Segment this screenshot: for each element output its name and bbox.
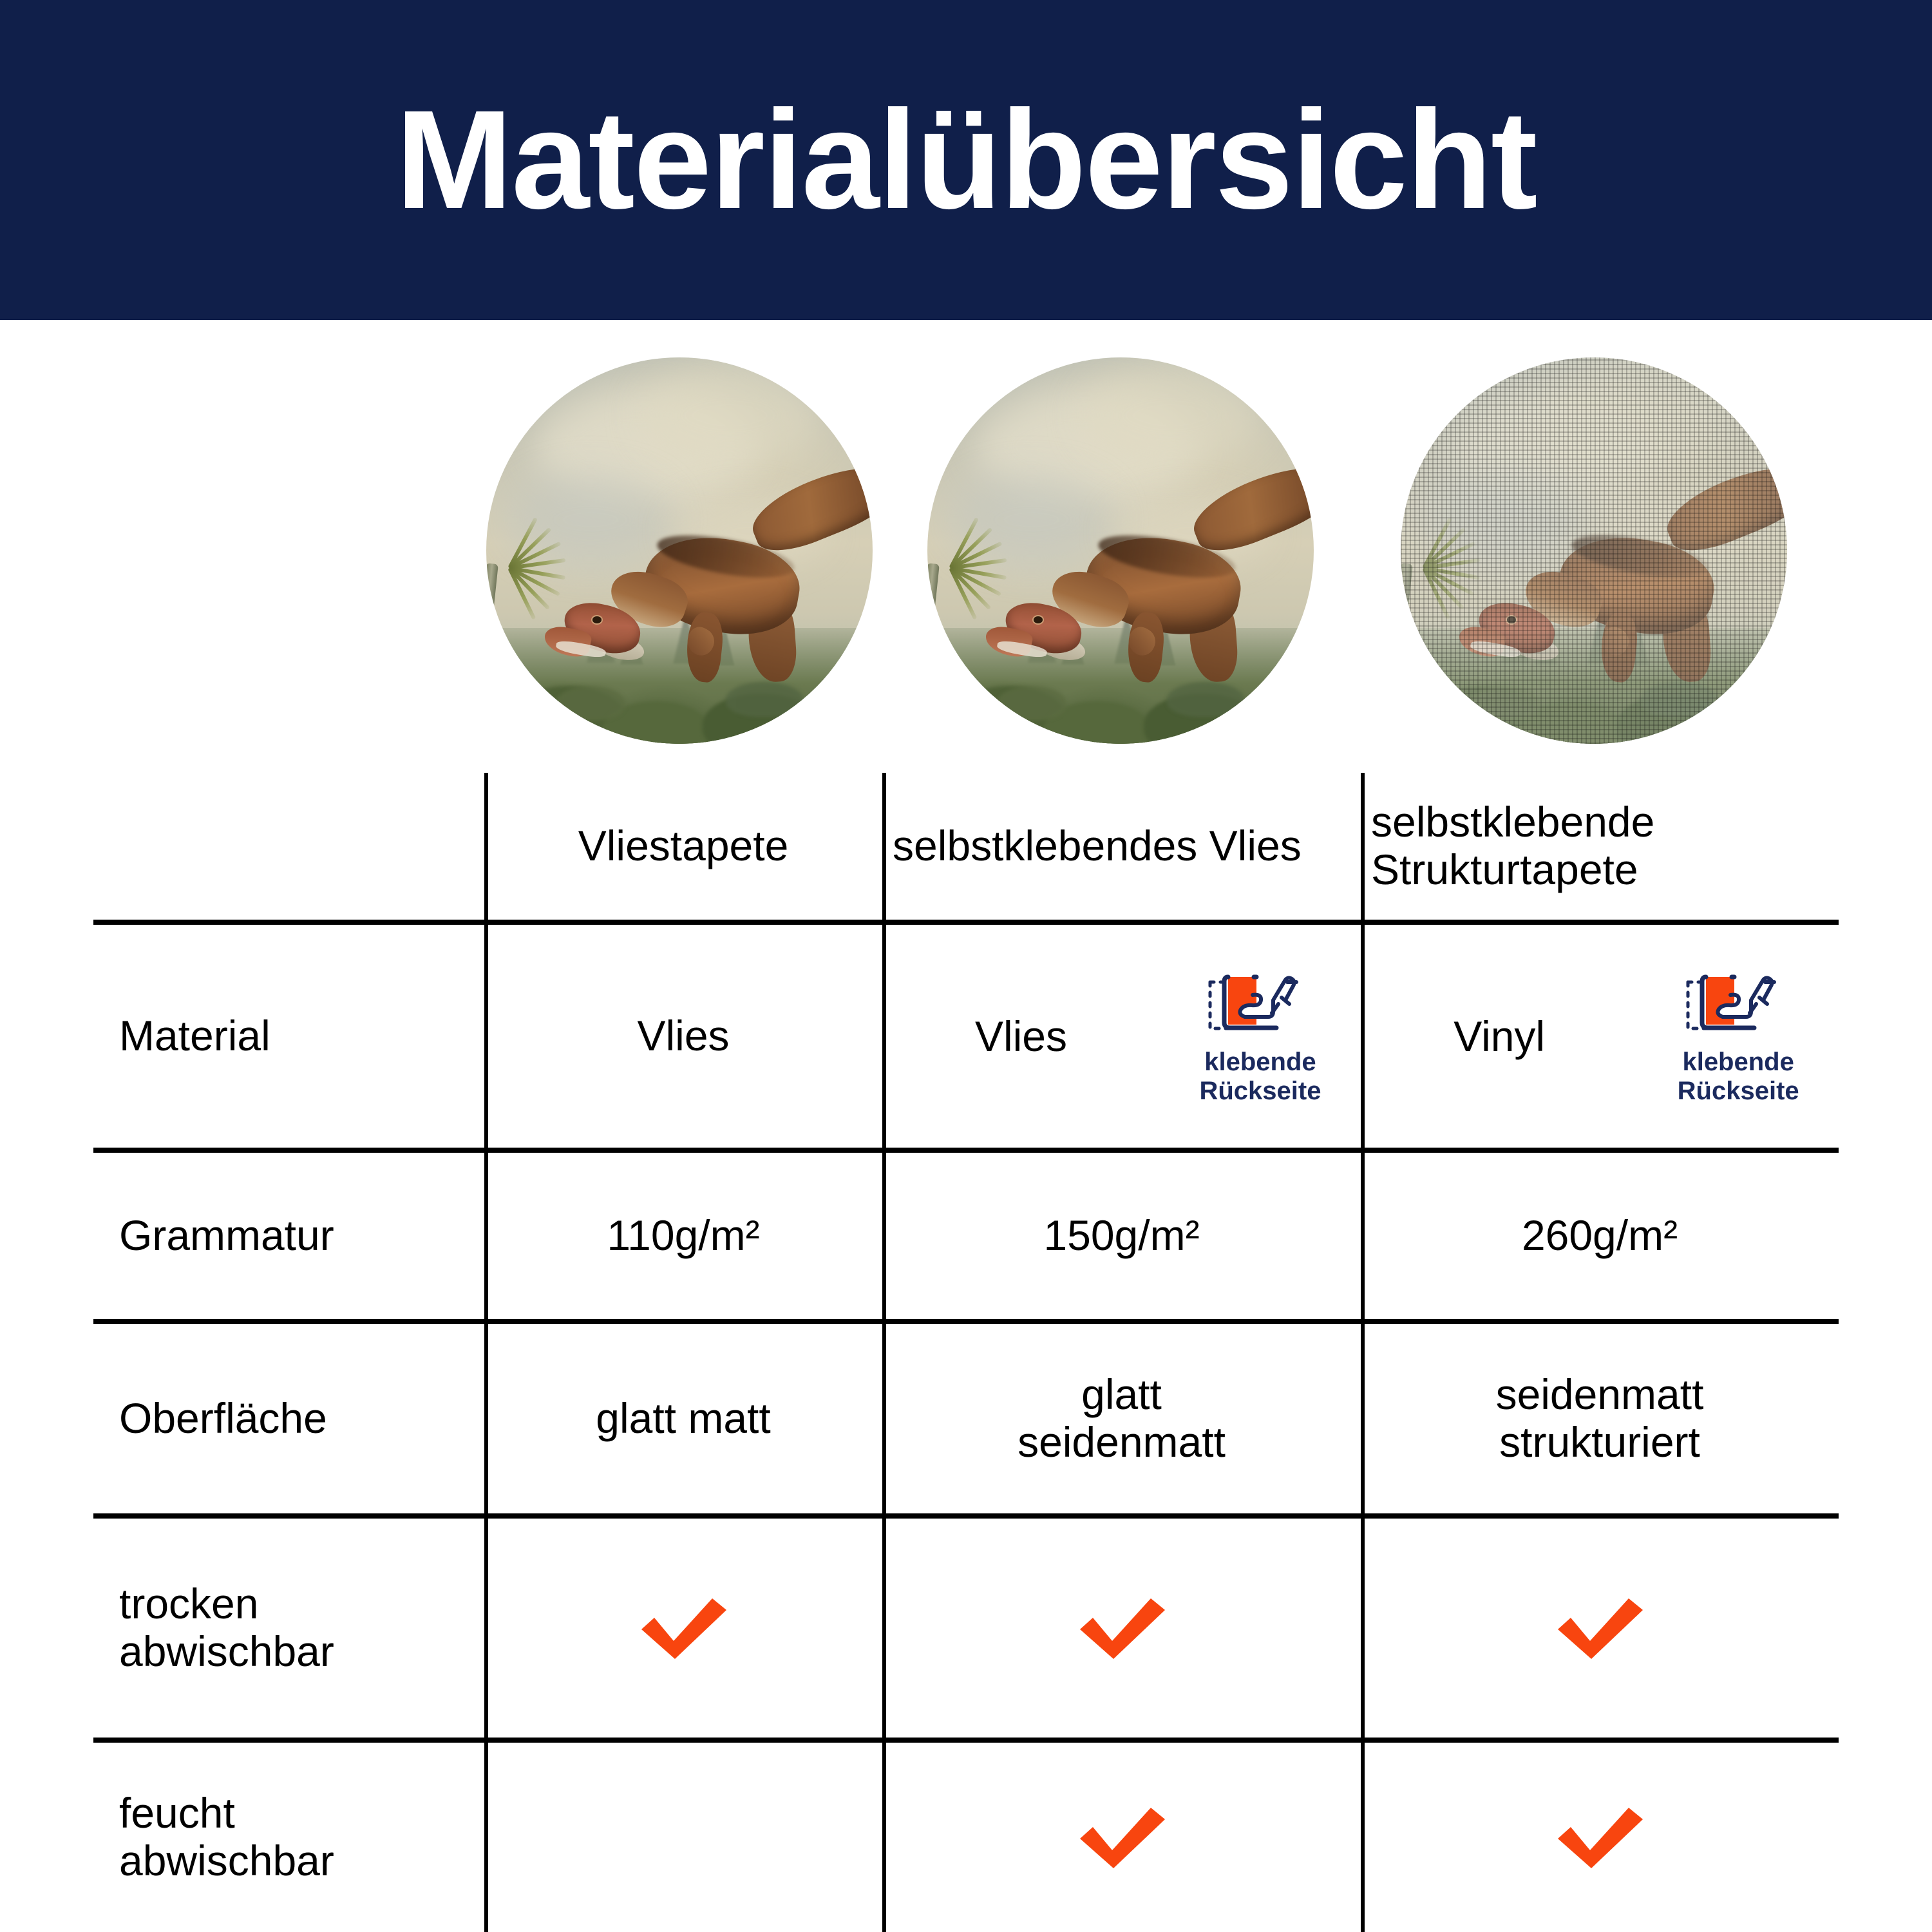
dinosaur-scene: [927, 357, 1314, 744]
row-divider: [93, 1319, 1839, 1324]
row-label-feucht-abwischbar: feucht abwischbar: [93, 1743, 510, 1932]
adhesive-badge-label: klebende Rückseite: [1678, 1048, 1799, 1106]
cell-oberflaeche-col2: glatt seidenmatt: [882, 1324, 1361, 1513]
cell-material-col3: Vinyl klebende Rückseite: [1361, 925, 1839, 1148]
header-bar: Materialübersicht: [0, 0, 1932, 320]
dinosaur-scene: [1401, 357, 1787, 744]
swatch-vliestapete: [486, 357, 873, 744]
cell-material-col2: Vlies klebende Rückseite: [882, 925, 1361, 1148]
swatch-selbstklebendes-vlies: [927, 357, 1314, 744]
cell-oberflaeche-col3: seidenmatt strukturiert: [1361, 1324, 1839, 1513]
row-label-material: Material: [93, 925, 510, 1148]
dinosaur-tail: [744, 450, 873, 562]
cell-material-col2-value: Vlies: [882, 1012, 1160, 1061]
cell-oberflaeche-col1: glatt matt: [484, 1324, 882, 1513]
dinosaur-eye: [1034, 616, 1043, 623]
adhesive-badge-label: klebende Rückseite: [1199, 1048, 1321, 1106]
row-label-trocken-abwischbar: trocken abwischbar: [93, 1519, 510, 1738]
check-trocken-col3: [1361, 1519, 1839, 1738]
peel-adhesive-backing-icon: [1674, 967, 1803, 1043]
adhesive-badge: klebende Rückseite: [1638, 967, 1839, 1106]
dinosaur-tail: [1185, 450, 1314, 562]
row-label-grammatur: Grammatur: [93, 1153, 510, 1319]
checkmark-icon: [1074, 1801, 1170, 1873]
cell-grammatur-col1: 110g/m²: [484, 1153, 882, 1319]
woven-texture-overlay: [1401, 357, 1787, 744]
dinosaur-eye: [592, 616, 601, 623]
table-column-header-1: Vliestapete: [484, 773, 882, 920]
checkmark-icon: [1551, 1592, 1648, 1664]
row-divider: [93, 1513, 1839, 1519]
row-label-oberflaeche: Oberfläche: [93, 1324, 510, 1513]
dinosaur: [486, 357, 873, 744]
check-trocken-col1: [484, 1519, 882, 1738]
row-divider: [93, 920, 1839, 925]
cell-grammatur-col2: 150g/m²: [882, 1153, 1361, 1319]
peel-adhesive-backing-icon: [1196, 967, 1325, 1043]
cell-grammatur-col3: 260g/m²: [1361, 1153, 1839, 1319]
cell-material-col1: Vlies: [484, 925, 882, 1148]
checkmark-icon: [635, 1592, 732, 1664]
dinosaur-scene: [486, 357, 873, 744]
checkmark-icon: [1551, 1801, 1648, 1873]
check-feucht-col3: [1361, 1743, 1839, 1932]
check-feucht-col2: [882, 1743, 1361, 1932]
page-title: Materialübersicht: [395, 90, 1536, 231]
check-trocken-col2: [882, 1519, 1361, 1738]
table-column-header-3: selbstklebende Strukturtapete: [1361, 773, 1839, 920]
swatch-selbstklebende-strukturtapete: [1401, 357, 1787, 744]
cell-material-col3-value: Vinyl: [1361, 1012, 1638, 1061]
row-divider: [93, 1148, 1839, 1153]
checkmark-icon: [1074, 1592, 1170, 1664]
dinosaur: [927, 357, 1314, 744]
table-column-header-2: selbstklebendes Vlies: [882, 773, 1361, 920]
check-feucht-col1: [484, 1743, 882, 1932]
adhesive-badge: klebende Rückseite: [1160, 967, 1361, 1106]
row-divider: [93, 1738, 1839, 1743]
